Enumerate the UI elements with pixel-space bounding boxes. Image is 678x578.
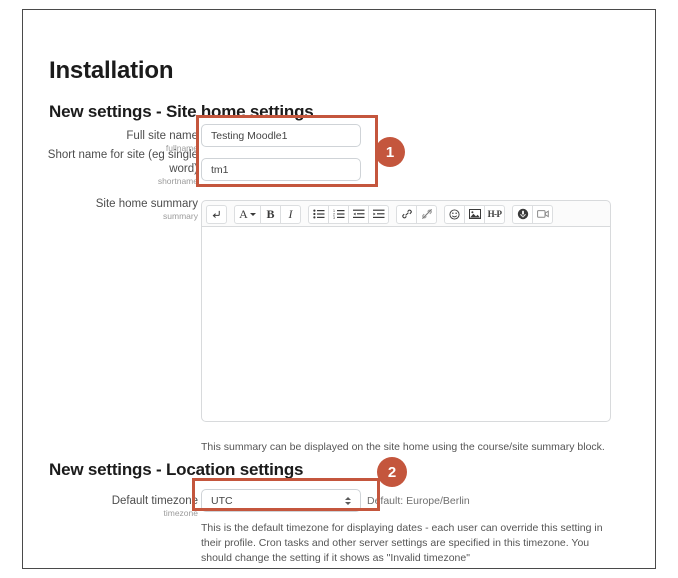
page-content: Installation New settings - Site home se… (23, 10, 655, 568)
bulleted-list-icon[interactable] (308, 205, 329, 224)
undo-icon[interactable] (206, 205, 227, 224)
unlink-icon[interactable] (416, 205, 437, 224)
input-shortname[interactable] (201, 158, 361, 181)
section-heading-site-home: New settings - Site home settings (49, 102, 314, 122)
record-video-icon[interactable] (532, 205, 553, 224)
annotation-badge-1: 1 (375, 137, 405, 167)
label-shortname: Short name for site (eg single word) (41, 148, 198, 176)
toolbar-group-lists: 1 2 3 (308, 205, 389, 224)
h5p-icon[interactable]: H-P (484, 205, 505, 224)
document-page-frame: Installation New settings - Site home se… (22, 9, 656, 569)
page-title: Installation (49, 57, 173, 85)
numbered-list-icon[interactable]: 1 2 3 (328, 205, 349, 224)
toolbar-group-undo (206, 205, 227, 224)
record-audio-icon[interactable] (512, 205, 533, 224)
link-icon[interactable] (396, 205, 417, 224)
label-fullname: Full site name (41, 129, 198, 143)
help-text-summary: This summary can be displayed on the sit… (201, 440, 616, 455)
h5p-label: H-P (488, 209, 502, 219)
label-summary: Site home summary (41, 197, 198, 211)
sublabel-shortname: shortname (41, 176, 198, 187)
toolbar-group-text: A B I (234, 205, 301, 224)
chevron-updown-icon (345, 497, 351, 505)
bold-icon[interactable]: B (260, 205, 281, 224)
summary-rich-text-editor[interactable]: A B I (201, 200, 611, 422)
select-timezone-value: UTC (211, 495, 233, 507)
timezone-default-note: Default: Europe/Berlin (367, 495, 470, 507)
outdent-icon[interactable] (348, 205, 369, 224)
annotation-badge-2: 2 (377, 457, 407, 487)
toolbar-group-link (396, 205, 437, 224)
toolbar-group-media: H-P (444, 205, 505, 224)
select-timezone[interactable]: UTC (201, 489, 361, 512)
font-style-icon[interactable]: A (234, 205, 261, 224)
sublabel-summary: summary (41, 211, 198, 222)
sublabel-timezone: timezone (41, 508, 198, 519)
svg-text:3: 3 (333, 216, 335, 219)
screenshot-root: Installation New settings - Site home se… (0, 0, 678, 578)
emoji-icon[interactable] (444, 205, 465, 224)
italic-icon[interactable]: I (280, 205, 301, 224)
editor-content-area[interactable] (201, 226, 611, 422)
input-fullname[interactable] (201, 124, 361, 147)
label-timezone: Default timezone (41, 494, 198, 508)
indent-icon[interactable] (368, 205, 389, 224)
toolbar-group-record (512, 205, 553, 224)
help-text-timezone: This is the default timezone for display… (201, 521, 621, 566)
section-heading-location: New settings - Location settings (49, 460, 303, 480)
editor-toolbar: A B I (201, 200, 611, 227)
image-icon[interactable] (464, 205, 485, 224)
